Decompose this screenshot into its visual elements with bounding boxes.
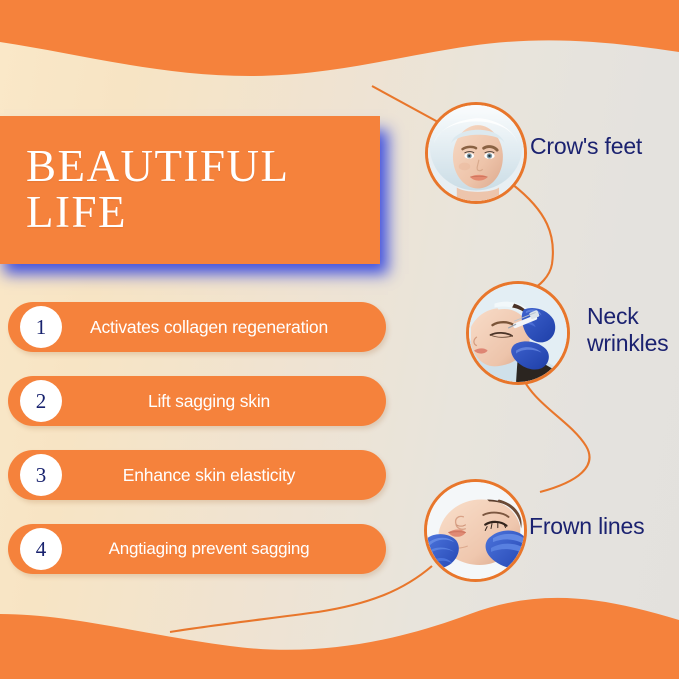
bottom-orange-wave: [0, 598, 679, 679]
list-item-label: Activates collagen regeneration: [8, 317, 386, 338]
list-item-number: 4: [20, 528, 62, 570]
list-item-label: Angtiaging prevent sagging: [8, 539, 386, 559]
neck-injection-photo: [469, 284, 567, 382]
list-item-label: Lift sagging skin: [8, 391, 386, 412]
woman-face-headband-photo: [428, 105, 524, 201]
callout-photo-neck-wrinkles[interactable]: [466, 281, 570, 385]
callout-photo-crows-feet[interactable]: [425, 102, 527, 204]
list-item-number: 2: [20, 380, 62, 422]
list-item[interactable]: 2 Lift sagging skin: [8, 376, 386, 426]
connector-path-mid-lower: [520, 372, 589, 492]
face-massage-gloves-photo: [427, 482, 524, 579]
callout-label-frown-lines: Frown lines: [529, 513, 644, 540]
page-title: BEAUTIFUL LIFE: [0, 144, 289, 236]
list-item-label: Enhance skin elasticity: [8, 465, 386, 486]
callout-photo-frown-lines[interactable]: [424, 479, 527, 582]
callout-label-crows-feet: Crow's feet: [530, 133, 642, 160]
list-item-number: 3: [20, 454, 62, 496]
benefits-list: 1 Activates collagen regeneration 2 Lift…: [8, 302, 386, 598]
top-orange-wave: [0, 0, 679, 76]
list-item[interactable]: 1 Activates collagen regeneration: [8, 302, 386, 352]
callout-label-neck-wrinkles: Neck wrinkles: [587, 303, 668, 356]
title-banner: BEAUTIFUL LIFE: [0, 116, 380, 264]
list-item-number: 1: [20, 306, 62, 348]
list-item[interactable]: 4 Angtiaging prevent sagging: [8, 524, 386, 574]
beauty-infographic-poster: BEAUTIFUL LIFE 1 Activates collagen rege…: [0, 0, 679, 679]
list-item[interactable]: 3 Enhance skin elasticity: [8, 450, 386, 500]
